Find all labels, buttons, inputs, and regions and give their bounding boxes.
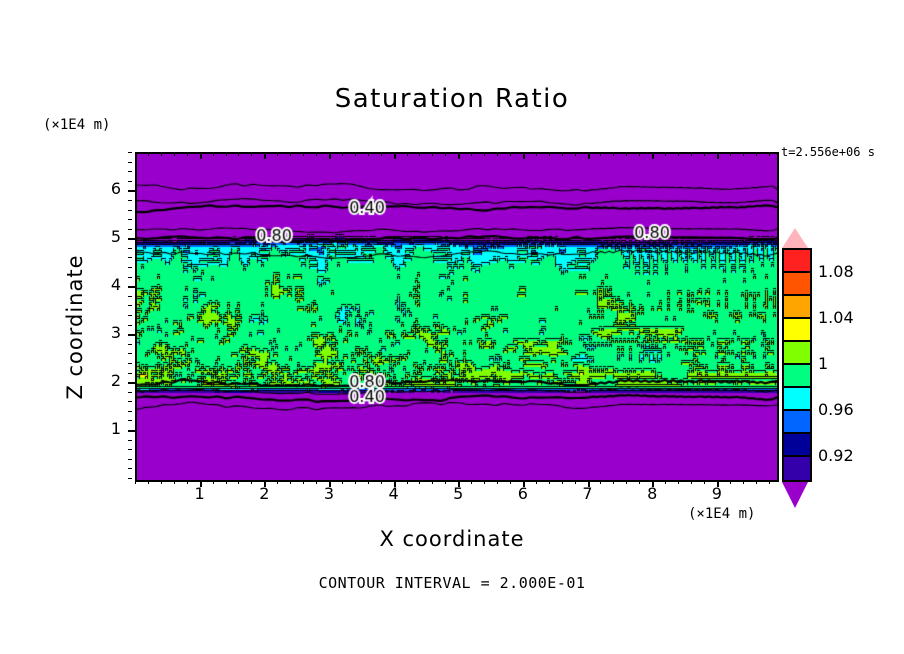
x-tick-minor <box>355 152 356 156</box>
y-tick-label: 1 <box>99 419 121 438</box>
x-tick-minor <box>445 152 446 156</box>
x-tick-minor <box>342 152 343 156</box>
y-tick-label: 4 <box>99 275 121 294</box>
x-tick-minor <box>626 480 627 484</box>
x-tick-minor <box>743 152 744 156</box>
x-tick-minor <box>135 480 136 484</box>
x-tick-minor <box>174 152 175 156</box>
x-tick-minor <box>600 152 601 156</box>
x-tick-minor <box>484 152 485 156</box>
colorbar-under-arrow <box>782 482 808 508</box>
y-tick-minor <box>128 200 132 201</box>
x-tick-major <box>523 152 525 159</box>
x-tick-major <box>200 152 202 159</box>
colorbar-tick-label: 1 <box>818 354 828 373</box>
colorbar-swatch <box>784 365 810 388</box>
x-tick-label: 5 <box>443 484 473 503</box>
y-tick-minor <box>128 468 132 469</box>
x-tick-minor <box>704 152 705 156</box>
y-tick-minor <box>128 296 132 297</box>
x-tick-major <box>717 152 719 159</box>
y-tick-minor <box>128 267 132 268</box>
x-tick-major <box>264 152 266 159</box>
y-tick-minor <box>128 411 132 412</box>
y-tick-minor <box>128 305 132 306</box>
x-tick-minor <box>368 480 369 484</box>
y-tick-minor <box>128 440 132 441</box>
x-tick-label: 6 <box>508 484 538 503</box>
x-tick-minor <box>536 152 537 156</box>
y-tick-minor <box>128 459 132 460</box>
y-tick-minor <box>128 277 132 278</box>
x-tick-label: 8 <box>637 484 667 503</box>
x-tick-minor <box>303 152 304 156</box>
y-tick-minor <box>128 152 132 153</box>
x-tick-minor <box>769 152 770 156</box>
x-tick-minor <box>407 152 408 156</box>
y-tick-minor <box>128 373 132 374</box>
x-tick-minor <box>510 152 511 156</box>
x-tick-minor <box>135 152 136 156</box>
x-tick-minor <box>639 152 640 156</box>
colorbar-swatch <box>784 411 810 434</box>
y-tick-label: 3 <box>99 323 121 342</box>
colorbar-swatch <box>784 296 810 319</box>
colorbar-tick-label: 0.96 <box>818 400 854 419</box>
y-tick-minor <box>128 257 132 258</box>
x-tick-minor <box>213 152 214 156</box>
colorbar-swatches <box>782 248 812 482</box>
x-tick-minor <box>355 480 356 484</box>
y-tick-minor <box>128 449 132 450</box>
x-tick-minor <box>497 480 498 484</box>
x-tick-label: 7 <box>573 484 603 503</box>
x-tick-minor <box>613 152 614 156</box>
colorbar-over-arrow <box>782 228 808 248</box>
x-tick-minor <box>277 152 278 156</box>
x-tick-label: 3 <box>314 484 344 503</box>
y-tick-minor <box>128 325 132 326</box>
y-tick-minor <box>128 162 132 163</box>
x-tick-label: 4 <box>379 484 409 503</box>
x-tick-minor <box>562 152 563 156</box>
x-tick-minor <box>419 152 420 156</box>
x-tick-major <box>394 152 396 159</box>
y-tick-major <box>128 286 135 288</box>
x-tick-minor <box>290 152 291 156</box>
x-tick-minor <box>238 152 239 156</box>
x-tick-minor <box>290 480 291 484</box>
y-tick-minor <box>128 363 132 364</box>
x-tick-minor <box>691 152 692 156</box>
colorbar-swatch <box>784 319 810 342</box>
x-tick-label: 1 <box>185 484 215 503</box>
x-tick-minor <box>161 152 162 156</box>
y-tick-minor <box>128 392 132 393</box>
contour-interval-caption: CONTOUR INTERVAL = 2.000E-01 <box>0 574 904 592</box>
x-tick-minor <box>678 480 679 484</box>
y-tick-minor <box>128 344 132 345</box>
x-tick-minor <box>316 152 317 156</box>
x-tick-minor <box>432 152 433 156</box>
y-tick-label: 5 <box>99 227 121 246</box>
x-tick-minor <box>471 152 472 156</box>
y-tick-minor <box>128 219 132 220</box>
x-tick-minor <box>381 152 382 156</box>
y-tick-minor <box>128 248 132 249</box>
x-tick-minor <box>419 480 420 484</box>
colorbar-swatch <box>784 457 810 480</box>
y-tick-label: 2 <box>99 371 121 390</box>
colorbar-tick-label: 1.04 <box>818 308 854 327</box>
y-tick-label: 6 <box>99 179 121 198</box>
time-stamp-annotation: t=2.556e+06 s <box>781 145 875 159</box>
plot-area[interactable] <box>135 152 779 482</box>
figure-root: Saturation Ratio (×1E4 m) t=2.556e+06 s … <box>0 0 904 654</box>
x-tick-major <box>458 152 460 159</box>
y-tick-minor <box>128 171 132 172</box>
colorbar-swatch <box>784 342 810 365</box>
colorbar-tick-label: 1.08 <box>818 262 854 281</box>
x-tick-minor <box>251 152 252 156</box>
x-tick-label: 9 <box>702 484 732 503</box>
x-tick-minor <box>730 152 731 156</box>
y-tick-minor <box>128 315 132 316</box>
y-tick-major <box>128 382 135 384</box>
y-tick-major <box>128 430 135 432</box>
contour-field-canvas <box>137 154 777 480</box>
x-tick-minor <box>562 480 563 484</box>
x-tick-minor <box>174 480 175 484</box>
x-tick-minor <box>613 480 614 484</box>
colorbar-swatch <box>784 434 810 457</box>
x-tick-minor <box>303 480 304 484</box>
y-tick-minor <box>128 210 132 211</box>
y-tick-major <box>128 334 135 336</box>
x-tick-minor <box>756 480 757 484</box>
colorbar-swatch <box>784 388 810 411</box>
x-tick-minor <box>549 480 550 484</box>
x-tick-minor <box>678 152 679 156</box>
x-tick-major <box>329 152 331 159</box>
y-tick-minor <box>128 478 132 479</box>
page-title: Saturation Ratio <box>0 84 904 114</box>
colorbar[interactable] <box>782 228 808 508</box>
y-tick-minor <box>128 401 132 402</box>
y-tick-minor <box>128 181 132 182</box>
y-tick-minor <box>128 229 132 230</box>
y-tick-major <box>128 190 135 192</box>
x-tick-major <box>652 152 654 159</box>
colorbar-swatch <box>784 273 810 296</box>
x-tick-minor <box>484 480 485 484</box>
y-axis-unit-label: (×1E4 m) <box>43 117 110 133</box>
x-tick-minor <box>691 480 692 484</box>
x-axis-title: X coordinate <box>0 527 904 551</box>
x-tick-label: 2 <box>249 484 279 503</box>
x-tick-minor <box>238 480 239 484</box>
x-tick-minor <box>549 152 550 156</box>
x-tick-minor <box>575 152 576 156</box>
x-tick-minor <box>161 480 162 484</box>
x-tick-major <box>588 152 590 159</box>
x-tick-minor <box>148 152 149 156</box>
y-tick-minor <box>128 353 132 354</box>
x-tick-minor <box>497 152 498 156</box>
x-tick-minor <box>368 152 369 156</box>
x-tick-minor <box>756 152 757 156</box>
x-tick-minor <box>432 480 433 484</box>
colorbar-swatch <box>784 250 810 273</box>
x-axis-unit-label: (×1E4 m) <box>688 506 755 522</box>
x-tick-minor <box>187 152 188 156</box>
x-tick-minor <box>148 480 149 484</box>
x-tick-minor <box>626 152 627 156</box>
x-tick-minor <box>665 152 666 156</box>
y-axis-title: Z coordinate <box>63 227 87 427</box>
colorbar-tick-label: 0.92 <box>818 446 854 465</box>
x-tick-minor <box>226 152 227 156</box>
y-tick-major <box>128 238 135 240</box>
x-tick-minor <box>743 480 744 484</box>
x-tick-minor <box>226 480 227 484</box>
x-tick-minor <box>769 480 770 484</box>
y-tick-minor <box>128 420 132 421</box>
